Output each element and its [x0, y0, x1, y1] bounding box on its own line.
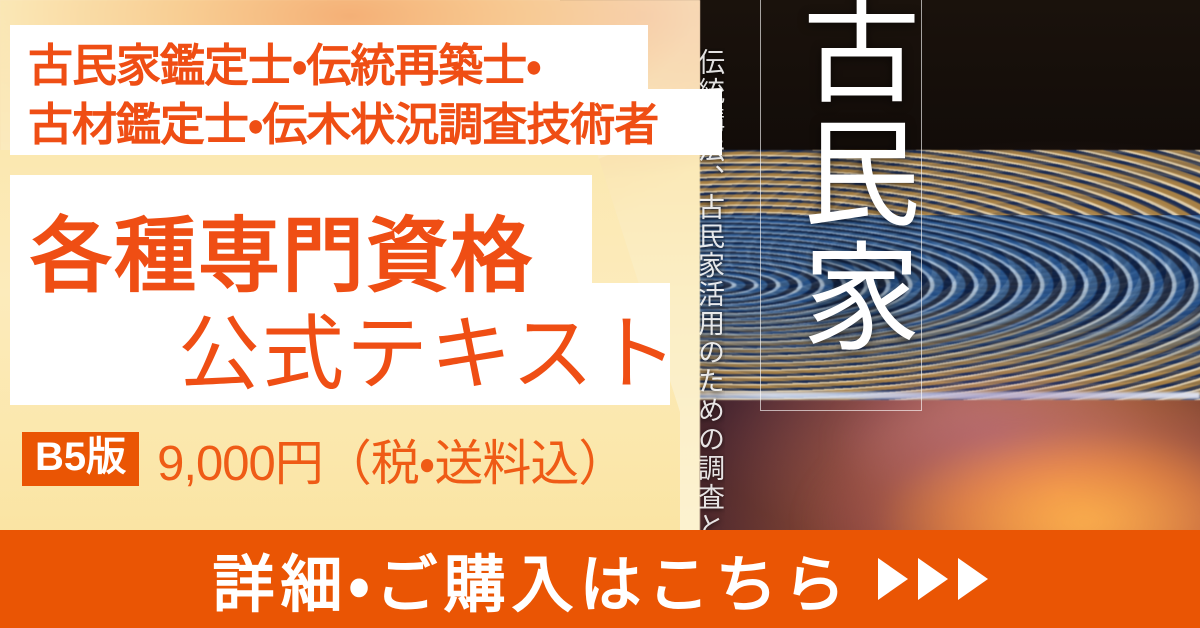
book-cover-title: 古民家 [765, 0, 915, 360]
arrow-right-icon [958, 558, 988, 600]
arrow-right-icon [918, 558, 948, 600]
headline-line-2: 古材鑑定士・伝木状況調査技術者 [28, 88, 658, 153]
format-badge: B5版 [22, 432, 139, 486]
promo-banner[interactable]: 伝統構法、古民家活用のための調査と再生の 古民家 古民家鑑定士・伝統再築士・ 古… [0, 0, 1200, 628]
arrow-right-icon [878, 558, 908, 600]
headline-box: 古民家鑑定士・伝統再築士・ 古材鑑定士・伝木状況調査技術者 [10, 25, 722, 155]
title-line-2: 公式テキスト [178, 287, 680, 406]
price-amount: 9,000円（税・送料込） [157, 424, 626, 495]
headline-line-1: 古民家鑑定士・伝統再築士・ [28, 29, 541, 94]
cta-arrows-icon [878, 558, 988, 600]
cta-text-wrap: 詳細・ご購入はこちら [212, 534, 987, 624]
price-row: B5版 9,000円（税・送料込） [22, 428, 626, 490]
cta-label: 詳細・ご購入はこちら [212, 534, 851, 624]
title-box: 各種専門資格 公式テキスト [10, 175, 670, 405]
cta-bar[interactable]: 詳細・ご購入はこちら [0, 530, 1200, 628]
